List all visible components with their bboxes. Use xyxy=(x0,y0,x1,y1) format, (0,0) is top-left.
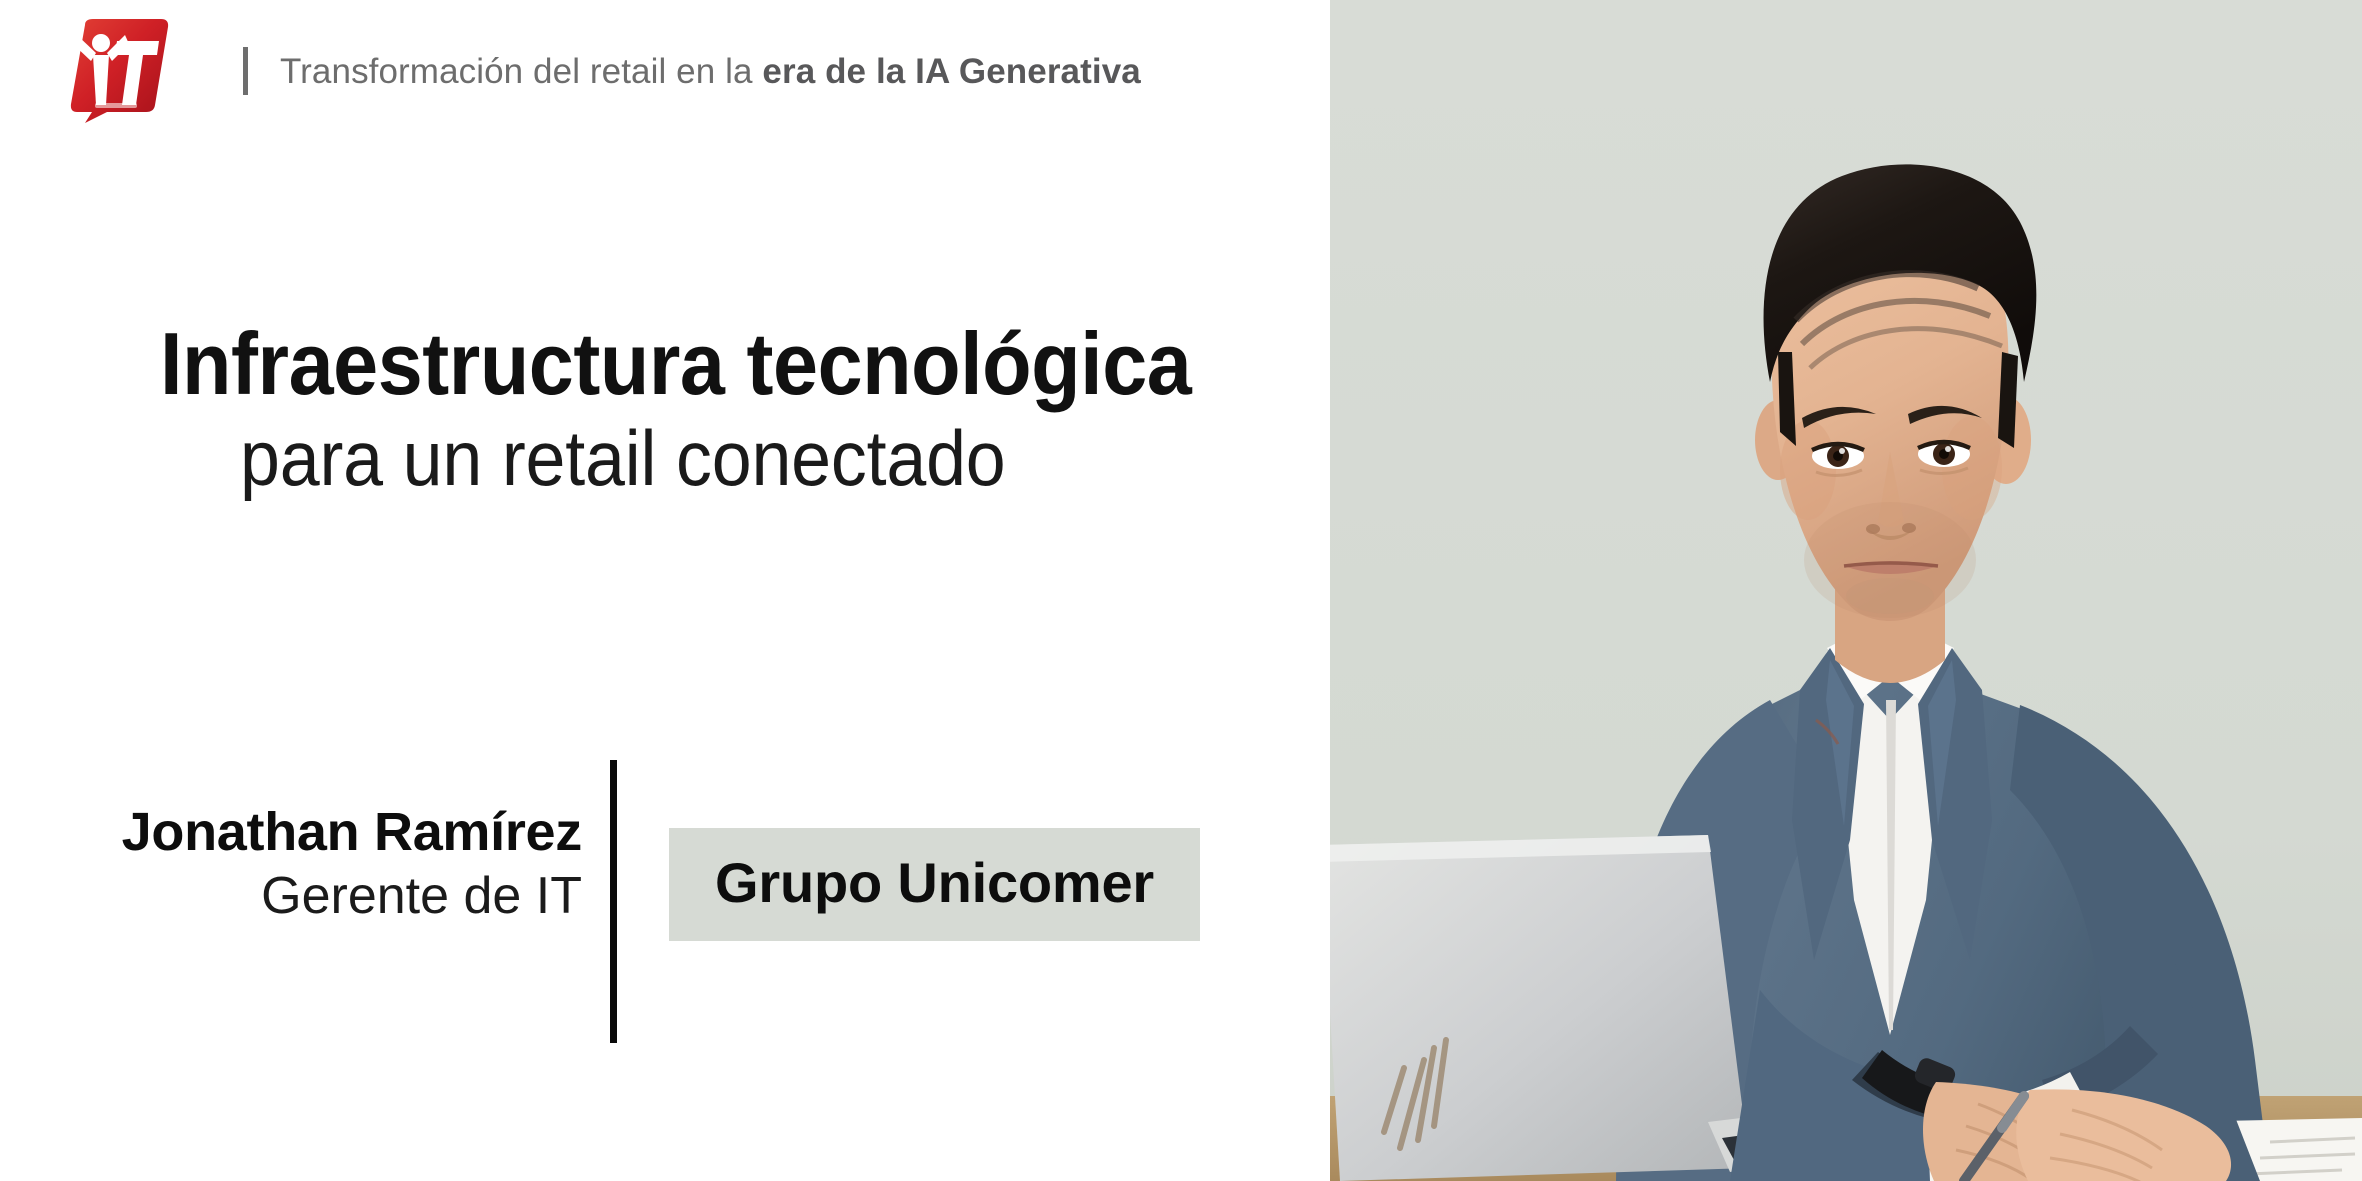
speaker-vertical-divider xyxy=(610,760,617,1043)
speaker-name: Jonathan Ramírez xyxy=(0,804,582,861)
brand-tagline: Transformación del retail en la era de l… xyxy=(280,54,1141,89)
company-badge: Grupo Unicomer xyxy=(669,828,1200,941)
company-wrap: Grupo Unicomer xyxy=(617,760,1200,941)
brand-divider xyxy=(243,47,248,95)
left-content-panel: Transformación del retail en la era de l… xyxy=(0,0,1330,1181)
speaker-photo xyxy=(1330,0,2362,1181)
brand-tagline-accent: era de la IA Generativa xyxy=(762,52,1140,91)
title-block: Infraestructura tecnológica para un reta… xyxy=(160,320,1220,500)
speaker-identity: Jonathan Ramírez Gerente de IT xyxy=(0,760,610,925)
speaker-role: Gerente de IT xyxy=(0,867,582,925)
brand-bar: Transformación del retail en la era de l… xyxy=(55,35,1141,107)
page-subtitle: para un retail conectado xyxy=(240,416,1142,500)
page-title: Infraestructura tecnológica xyxy=(160,320,1135,408)
speaker-block: Jonathan Ramírez Gerente de IT Grupo Uni… xyxy=(0,760,1330,1045)
brand-tagline-plain: Transformación del retail en la xyxy=(280,52,762,91)
webinar-title-slide: Transformación del retail en la era de l… xyxy=(0,0,2362,1181)
it-now-logo-icon[interactable] xyxy=(55,17,175,123)
